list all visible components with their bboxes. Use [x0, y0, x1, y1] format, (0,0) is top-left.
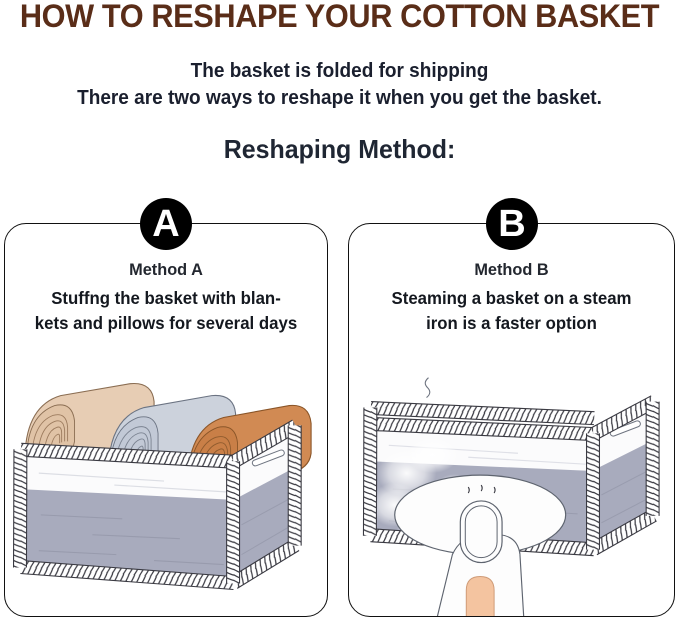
method-b-description-line-1: Steaming a basket on a steam	[392, 288, 632, 308]
section-heading: Reshaping Method:	[14, 133, 666, 165]
method-b-description-line-2: iron is a faster option	[426, 313, 597, 333]
badge-method-a: A	[140, 198, 192, 250]
method-a-title: Method A	[11, 260, 320, 280]
basket-with-blankets-illustration	[5, 369, 327, 617]
method-b-description: Steaming a basket on a steam iron is a f…	[363, 286, 660, 336]
steam-wisp-icon	[425, 378, 430, 398]
method-a-description-line-2: kets and pillows for several days	[35, 313, 297, 333]
infographic-page: HOW TO RESHAPE YOUR COTTON BASKET The ba…	[0, 0, 679, 623]
thumb	[466, 576, 494, 617]
method-a-description: Stuffng the basket with blan- kets and p…	[19, 286, 313, 336]
page-title: HOW TO RESHAPE YOUR COTTON BASKET	[14, 0, 666, 34]
method-a-panel: Method A Stuffng the basket with blan- k…	[4, 223, 328, 617]
method-a-description-line-1: Stuffng the basket with blan-	[51, 288, 281, 308]
subtitle-line-2: There are two ways to reshape it when yo…	[17, 85, 662, 111]
subtitle-line-1: The basket is folded for shipping	[17, 58, 662, 84]
badge-method-b: B	[486, 198, 538, 250]
method-b-panel: Method B Steaming a basket on a steam ir…	[348, 223, 675, 617]
basket-with-steamer-illustration	[349, 369, 674, 617]
method-b-title: Method B	[356, 260, 668, 280]
